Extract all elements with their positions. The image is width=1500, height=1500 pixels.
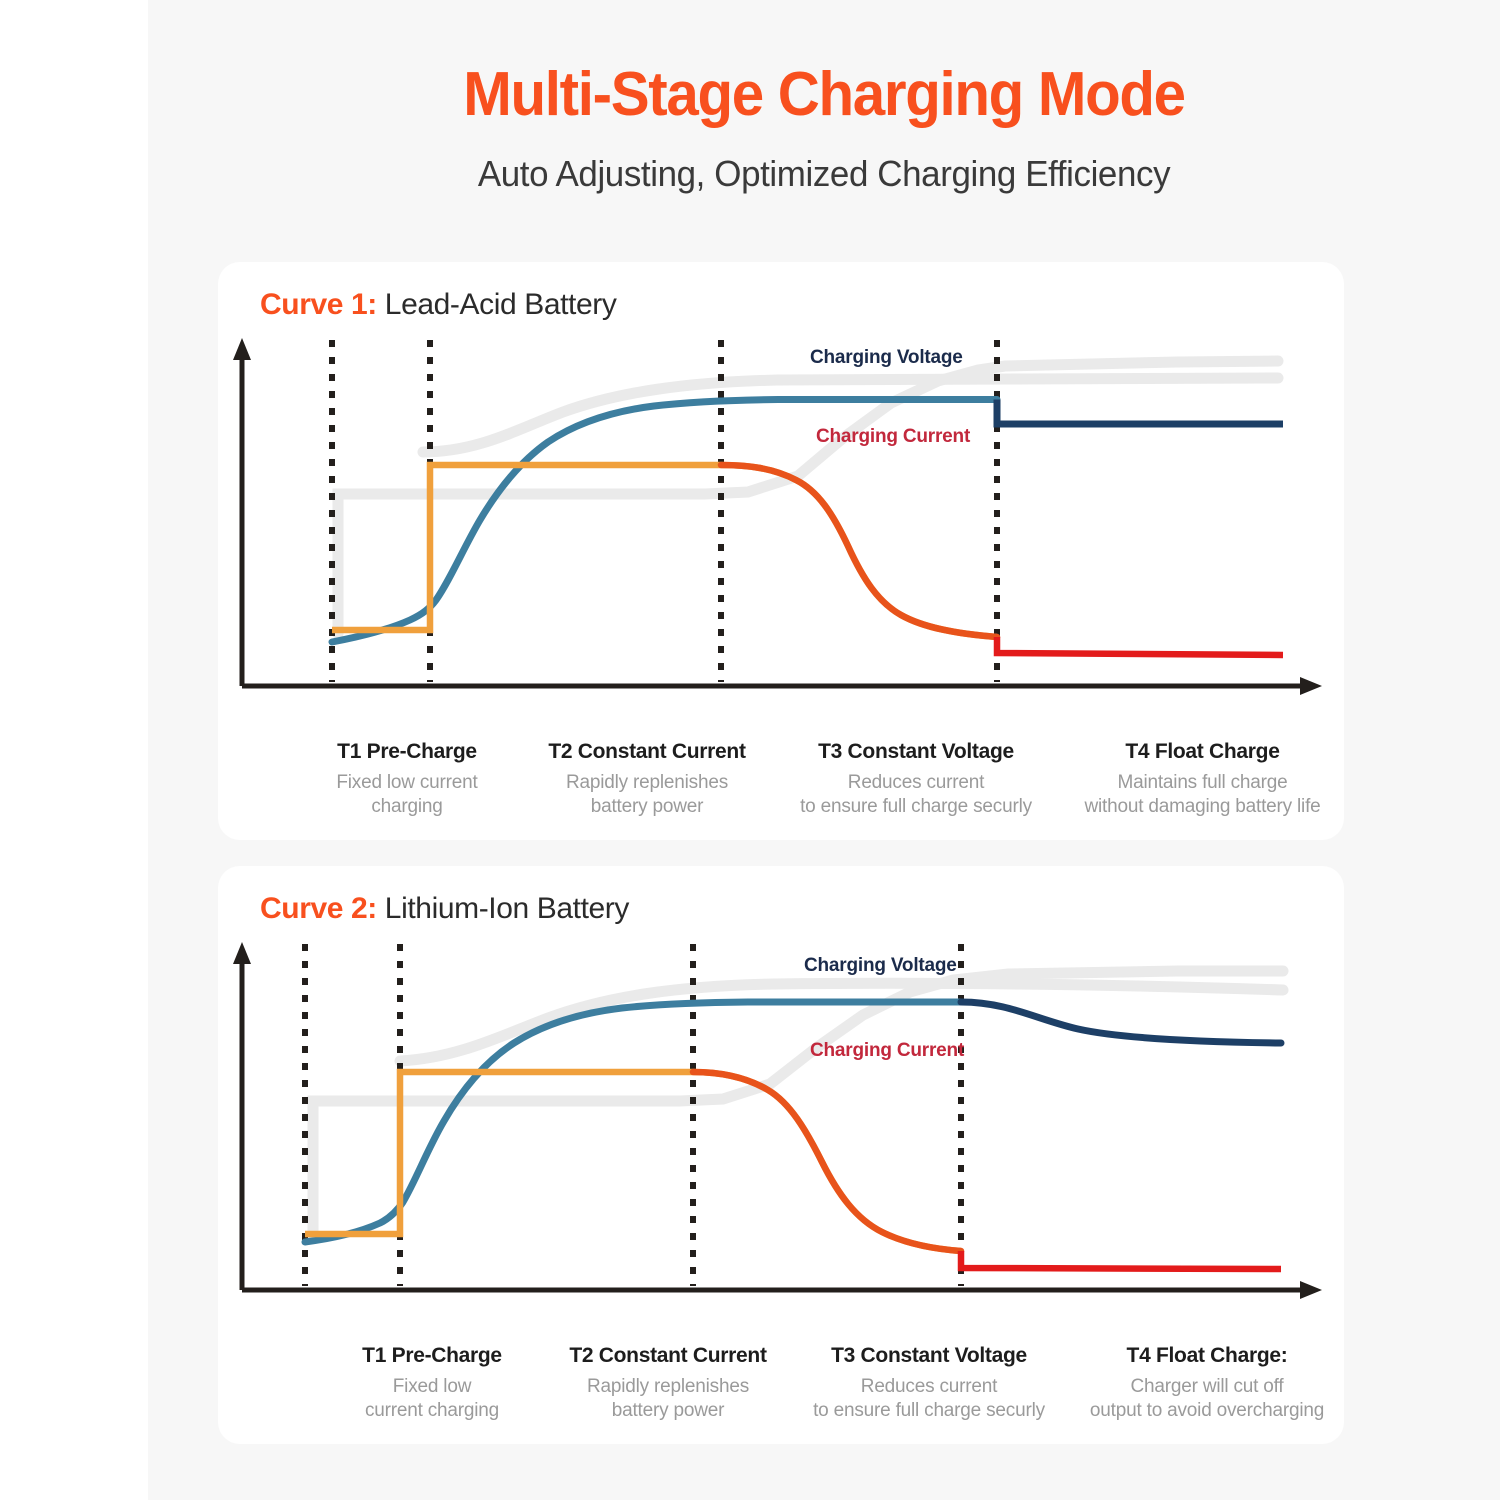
curve-2-label: Curve 2: xyxy=(260,892,377,925)
stage-t4-desc: Maintains full charge without damaging b… xyxy=(1061,771,1344,819)
stage-t2: T2 Constant Current Rapidly replenishes … xyxy=(523,740,771,819)
curve-1-current-float xyxy=(997,637,1283,655)
stage-t2-name: T2 Constant Current xyxy=(548,1344,788,1368)
curve-2-title: Curve 2: Lithium-Ion Battery xyxy=(260,892,629,926)
stage-t4: T4 Float Charge: Charger will cut off ou… xyxy=(1070,1344,1344,1423)
curve-1-battery-type: Lead-Acid Battery xyxy=(385,288,617,321)
stage-t1: T1 Pre-Charge Fixed low current charging xyxy=(316,1344,548,1423)
stage-t1-desc: Fixed low current charging xyxy=(291,771,523,819)
stage-t4-name: T4 Float Charge xyxy=(1061,740,1344,764)
curve-2-x-axis xyxy=(242,1281,1322,1299)
curve-2-voltage-label: Charging Voltage xyxy=(804,955,957,976)
curve-2-card: Curve 2: Lithium-Ion Battery xyxy=(218,866,1344,1444)
curve-1-voltage-label: Charging Voltage xyxy=(810,347,963,368)
stage-t2-desc: Rapidly replenishes battery power xyxy=(523,771,771,819)
curve-2-current-label: Charging Current xyxy=(810,1040,965,1061)
stage-t3-name: T3 Constant Voltage xyxy=(771,740,1061,764)
curve-1-chart: Charging Voltage Charging Current xyxy=(218,334,1344,734)
stage-t3: T3 Constant Voltage Reduces current to e… xyxy=(771,740,1061,819)
stage-t2-name: T2 Constant Current xyxy=(523,740,771,764)
curve-1-stage-list: T1 Pre-Charge Fixed low current charging… xyxy=(218,740,1344,819)
curve-2-y-axis xyxy=(233,942,251,1290)
stage-t2: T2 Constant Current Rapidly replenishes … xyxy=(548,1344,788,1423)
curve-1-current-label: Charging Current xyxy=(816,426,971,447)
curve-2-voltage-line xyxy=(305,1002,961,1242)
curve-1-svg: Charging Voltage Charging Current xyxy=(218,334,1344,734)
stage-t4: T4 Float Charge Maintains full charge wi… xyxy=(1061,740,1344,819)
curve-2-current-float xyxy=(961,1251,1281,1269)
stage-t3-desc: Reduces current to ensure full charge se… xyxy=(788,1375,1070,1423)
page-title: Multi-Stage Charging Mode xyxy=(189,62,1460,127)
page-root: Multi-Stage Charging Mode Auto Adjusting… xyxy=(148,0,1500,1500)
stage-t4-desc: Charger will cut off output to avoid ove… xyxy=(1070,1375,1344,1423)
stage-t2-desc: Rapidly replenishes battery power xyxy=(548,1375,788,1423)
stage-t1-desc: Fixed low current charging xyxy=(316,1375,548,1423)
stage-t1: T1 Pre-Charge Fixed low current charging xyxy=(291,740,523,819)
curve-2-svg: Charging Voltage Charging Current xyxy=(218,938,1344,1338)
stage-t1-name: T1 Pre-Charge xyxy=(291,740,523,764)
curve-1-title: Curve 1: Lead-Acid Battery xyxy=(260,288,616,322)
curve-2-voltage-float xyxy=(961,1002,1281,1043)
curve-1-y-axis xyxy=(233,338,251,686)
curve-2-battery-type: Lithium-Ion Battery xyxy=(385,892,629,925)
stage-t1-name: T1 Pre-Charge xyxy=(316,1344,548,1368)
curve-2-shadows xyxy=(313,971,1283,1238)
stage-t4-name: T4 Float Charge: xyxy=(1070,1344,1344,1368)
page-header: Multi-Stage Charging Mode Auto Adjusting… xyxy=(148,0,1500,195)
curve-1-x-axis xyxy=(242,677,1322,695)
curve-1-card: Curve 1: Lead-Acid Battery xyxy=(218,262,1344,840)
curve-1-voltage-float xyxy=(997,400,1283,425)
stage-t3: T3 Constant Voltage Reduces current to e… xyxy=(788,1344,1070,1423)
page-subtitle: Auto Adjusting, Optimized Charging Effic… xyxy=(168,153,1479,195)
curve-2-stage-list: T1 Pre-Charge Fixed low current charging… xyxy=(218,1344,1344,1423)
curve-1-label: Curve 1: xyxy=(260,288,377,321)
curve-2-chart: Charging Voltage Charging Current xyxy=(218,938,1344,1338)
stage-t3-name: T3 Constant Voltage xyxy=(788,1344,1070,1368)
stage-t3-desc: Reduces current to ensure full charge se… xyxy=(771,771,1061,819)
